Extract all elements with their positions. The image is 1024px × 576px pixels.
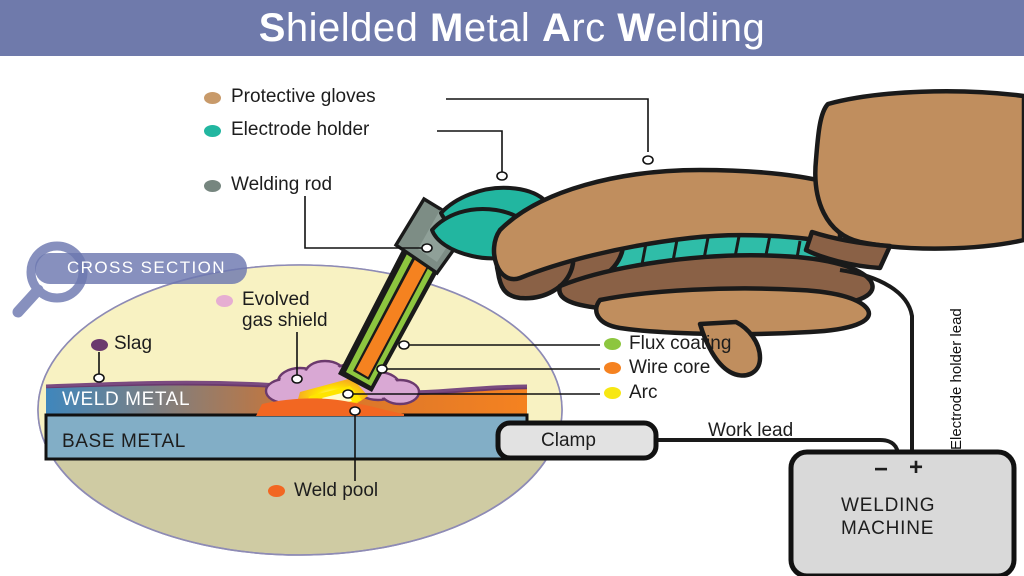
- label-slag: Slag: [114, 333, 152, 355]
- legend-label-electrode-holder: Electrode holder: [231, 119, 369, 141]
- machine-label-line1: WELDING: [841, 495, 935, 517]
- legend-label-flux-coating: Flux coating: [629, 333, 731, 355]
- legend-label-protective-gloves: Protective gloves: [231, 86, 376, 108]
- label-weld-metal: WELD METAL: [62, 389, 190, 411]
- machine-label-line2: MACHINE: [841, 518, 934, 540]
- label-gas-shield-line1: Evolved: [242, 289, 310, 310]
- weld-pool-dot: [268, 485, 285, 497]
- diagram-canvas: Shielded Metal Arc Welding: [0, 0, 1024, 576]
- label-base-metal: BASE METAL: [62, 431, 186, 453]
- legend-label-arc: Arc: [629, 382, 658, 404]
- diagram-artwork: [0, 0, 1024, 576]
- slag-dot: [91, 339, 108, 351]
- cross-section-label: CROSS SECTION: [67, 258, 226, 278]
- label-weld-pool: Weld pool: [294, 480, 378, 502]
- legend-label-welding-rod: Welding rod: [231, 174, 332, 196]
- glove-dot: [204, 92, 221, 104]
- wire-core-dot: [604, 362, 621, 374]
- legend-label-wire-core: Wire core: [629, 357, 710, 379]
- flux-coating-dot: [604, 338, 621, 350]
- label-gas-shield-line2: gas shield: [242, 310, 328, 331]
- cross-section-badge: CROSS SECTION: [35, 253, 247, 284]
- arc-dot: [604, 387, 621, 399]
- glove-forearm: [806, 91, 1024, 268]
- clamp-label: Clamp: [541, 430, 596, 452]
- terminal-positive: +: [909, 454, 923, 482]
- gas-shield-dot: [216, 295, 233, 307]
- work-lead-label: Work lead: [708, 420, 793, 442]
- rod-dot: [204, 180, 221, 192]
- electrode-holder-lead-label: Electrode holder lead: [948, 308, 965, 450]
- holder-dot: [204, 125, 221, 137]
- terminal-negative: −: [874, 456, 888, 484]
